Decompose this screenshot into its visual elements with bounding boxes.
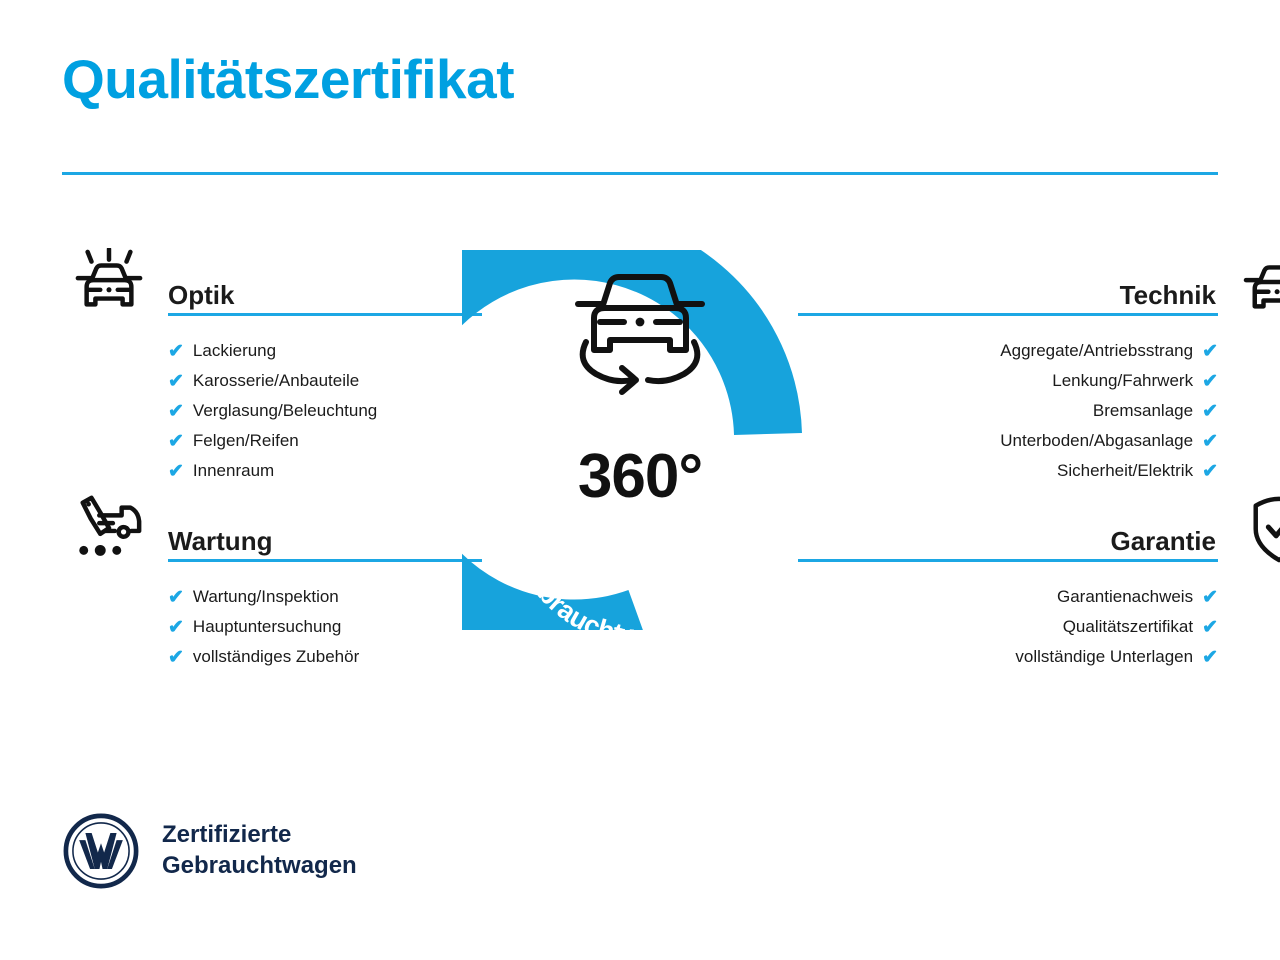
vw-logo <box>62 812 140 890</box>
list-item: ✔Verglasung/Beleuchtung <box>168 396 482 426</box>
list-item: ✔Wartung/Inspektion <box>168 582 482 612</box>
list-item: Garantienachweis✔ <box>1057 582 1218 612</box>
badge-number: 360° <box>462 446 818 508</box>
section-optik-title: Optik <box>168 282 234 308</box>
page-header: Qualitätszertifikat <box>62 52 1218 107</box>
footer-label: Zertifizierte Gebrauchtwagen <box>162 820 357 881</box>
check-icon: ✔ <box>168 462 184 481</box>
list-item: ✔Felgen/Reifen <box>168 426 482 456</box>
list-item: ✔Innenraum <box>168 456 482 486</box>
check-icon: ✔ <box>168 342 184 361</box>
section-wartung-title: Wartung <box>168 528 272 554</box>
list-item-label: Wartung/Inspektion <box>193 582 339 612</box>
section-wartung-header: Wartung <box>62 504 482 568</box>
section-wartung: Wartung ✔Wartung/Inspektion ✔Hauptunters… <box>62 504 482 672</box>
check-icon: ✔ <box>1202 618 1218 637</box>
list-item-label: vollständiges Zubehör <box>193 642 359 672</box>
vw-logo-mark <box>62 812 140 890</box>
list-item-label: Bremsanlage <box>1093 396 1193 426</box>
header-divider <box>62 172 1218 175</box>
list-item: Bremsanlage✔ <box>1093 396 1218 426</box>
service-record-icon <box>70 494 148 564</box>
list-item-label: Qualitätszertifikat <box>1063 612 1193 642</box>
list-item-label: Innenraum <box>193 456 274 486</box>
list-item: Sicherheit/Elektrik✔ <box>1057 456 1218 486</box>
wartung-check-list: ✔Wartung/Inspektion ✔Hauptuntersuchung ✔… <box>62 582 482 672</box>
section-technik: Technik Aggregate/Antriebsstrang✔ Lenkun… <box>798 258 1218 486</box>
badge-ring-graphic: Gebrauchtwagen-Check <box>462 250 818 630</box>
check-icon: ✔ <box>1202 432 1218 451</box>
list-item-label: Verglasung/Beleuchtung <box>193 396 377 426</box>
section-technik-header: Technik <box>798 258 1218 322</box>
list-item-label: Aggregate/Antriebsstrang <box>1000 336 1193 366</box>
section-technik-title: Technik <box>1120 282 1216 308</box>
footer-branding: Zertifizierte Gebrauchtwagen <box>62 812 357 890</box>
shield-check-icon <box>1242 494 1280 564</box>
section-garantie: Garantie Garantienachweis✔ Qualitätszert… <box>798 504 1218 672</box>
check-icon: ✔ <box>1202 402 1218 421</box>
check-icon: ✔ <box>1202 342 1218 361</box>
list-item: Aggregate/Antriebsstrang✔ <box>1000 336 1218 366</box>
check-icon: ✔ <box>168 372 184 391</box>
check-icon: ✔ <box>168 432 184 451</box>
section-technik-divider <box>798 313 1218 316</box>
garantie-check-list: Garantienachweis✔ Qualitätszertifikat✔ v… <box>798 582 1218 672</box>
car-polish-icon <box>70 248 148 318</box>
list-item-label: Hauptuntersuchung <box>193 612 341 642</box>
section-optik-header: Optik <box>62 258 482 322</box>
section-garantie-title: Garantie <box>1111 528 1217 554</box>
list-item: Unterboden/Abgasanlage✔ <box>1000 426 1218 456</box>
check-icon: ✔ <box>168 588 184 607</box>
list-item: Lenkung/Fahrwerk✔ <box>1052 366 1218 396</box>
list-item-label: Lackierung <box>193 336 276 366</box>
list-item-label: Felgen/Reifen <box>193 426 299 456</box>
check-icon: ✔ <box>1202 588 1218 607</box>
check-icon: ✔ <box>1202 462 1218 481</box>
car-checkbox-icon <box>1242 248 1280 318</box>
list-item: ✔Karosserie/Anbauteile <box>168 366 482 396</box>
section-garantie-header: Garantie <box>798 504 1218 568</box>
section-garantie-divider <box>798 559 1218 562</box>
check-icon: ✔ <box>168 402 184 421</box>
optik-check-list: ✔Lackierung ✔Karosserie/Anbauteile ✔Verg… <box>62 336 482 486</box>
check-icon: ✔ <box>1202 372 1218 391</box>
list-item: ✔Lackierung <box>168 336 482 366</box>
list-item-label: Karosserie/Anbauteile <box>193 366 359 396</box>
section-optik: Optik ✔Lackierung ✔Karosserie/Anbauteile… <box>62 258 482 486</box>
section-optik-divider <box>168 313 482 316</box>
section-wartung-divider <box>168 559 482 562</box>
list-item: ✔Hauptuntersuchung <box>168 612 482 642</box>
list-item: Qualitätszertifikat✔ <box>1063 612 1218 642</box>
list-item-label: Lenkung/Fahrwerk <box>1052 366 1193 396</box>
list-item-label: vollständige Unterlagen <box>1015 642 1193 672</box>
check-icon: ✔ <box>1202 648 1218 667</box>
list-item: ✔vollständiges Zubehör <box>168 642 482 672</box>
page-title: Qualitätszertifikat <box>62 52 1218 107</box>
list-item-label: Garantienachweis <box>1057 582 1193 612</box>
technik-check-list: Aggregate/Antriebsstrang✔ Lenkung/Fahrwe… <box>798 336 1218 486</box>
check-icon: ✔ <box>168 648 184 667</box>
list-item-label: Sicherheit/Elektrik <box>1057 456 1193 486</box>
list-item-label: Unterboden/Abgasanlage <box>1000 426 1193 456</box>
check-icon: ✔ <box>168 618 184 637</box>
list-item: vollständige Unterlagen✔ <box>1015 642 1218 672</box>
badge-360-check: Gebrauchtwagen-Check 360° <box>462 250 818 630</box>
